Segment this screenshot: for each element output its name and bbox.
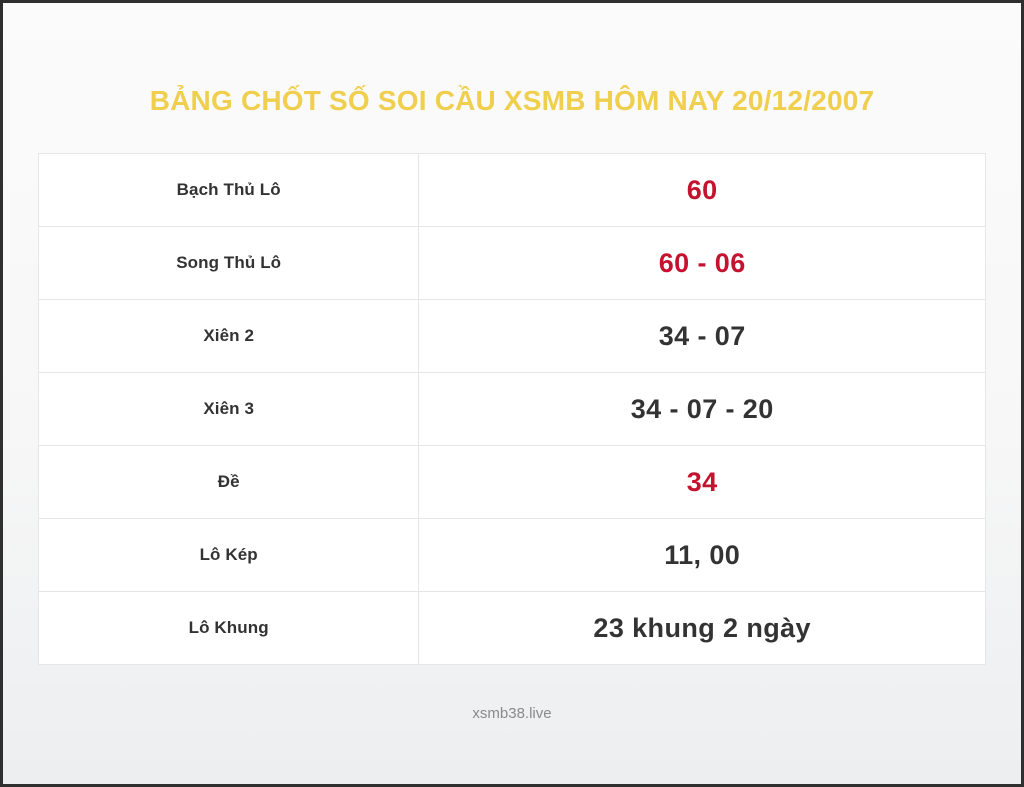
row-value: 60 [687,175,718,205]
row-label: Xiên 3 [203,399,254,418]
row-value-cell: 34 - 07 - 20 [419,373,986,446]
row-value-cell: 60 - 06 [419,227,986,300]
row-label-cell: Song Thủ Lô [39,227,419,300]
table-row: Xiên 2 34 - 07 [39,300,986,373]
row-value: 23 khung 2 ngày [593,613,811,643]
row-label-cell: Lô Kép [39,519,419,592]
result-card: BẢNG CHỐT SỐ SOI CẦU XSMB HÔM NAY 20/12/… [3,3,1021,784]
prediction-table-body: Bạch Thủ Lô 60 Song Thủ Lô 60 - 06 Xiên … [39,154,986,665]
row-label-cell: Bạch Thủ Lô [39,154,419,227]
row-value-cell: 34 [419,446,986,519]
table-row: Xiên 3 34 - 07 - 20 [39,373,986,446]
row-value-cell: 23 khung 2 ngày [419,592,986,665]
row-value: 11, 00 [664,540,740,570]
row-label-cell: Đề [39,446,419,519]
row-label: Xiên 2 [203,326,254,345]
row-label-cell: Xiên 2 [39,300,419,373]
table-row: Lô Kép 11, 00 [39,519,986,592]
row-value-cell: 34 - 07 [419,300,986,373]
table-row: Đề 34 [39,446,986,519]
row-label: Lô Kép [200,545,258,564]
prediction-table: Bạch Thủ Lô 60 Song Thủ Lô 60 - 06 Xiên … [38,153,986,665]
page-title: BẢNG CHỐT SỐ SOI CẦU XSMB HÔM NAY 20/12/… [3,81,1021,121]
row-value: 34 - 07 - 20 [631,394,774,424]
table-row: Song Thủ Lô 60 - 06 [39,227,986,300]
row-label: Đề [218,472,240,491]
row-value: 34 - 07 [659,321,746,351]
row-value: 34 [687,467,718,497]
row-value-cell: 60 [419,154,986,227]
footer-site-label: xsmb38.live [3,703,1021,725]
row-label: Bạch Thủ Lô [177,180,281,199]
row-label-cell: Xiên 3 [39,373,419,446]
table-row: Bạch Thủ Lô 60 [39,154,986,227]
row-value: 60 - 06 [659,248,746,278]
table-row: Lô Khung 23 khung 2 ngày [39,592,986,665]
row-value-cell: 11, 00 [419,519,986,592]
row-label: Lô Khung [189,618,269,637]
row-label: Song Thủ Lô [176,253,281,272]
row-label-cell: Lô Khung [39,592,419,665]
